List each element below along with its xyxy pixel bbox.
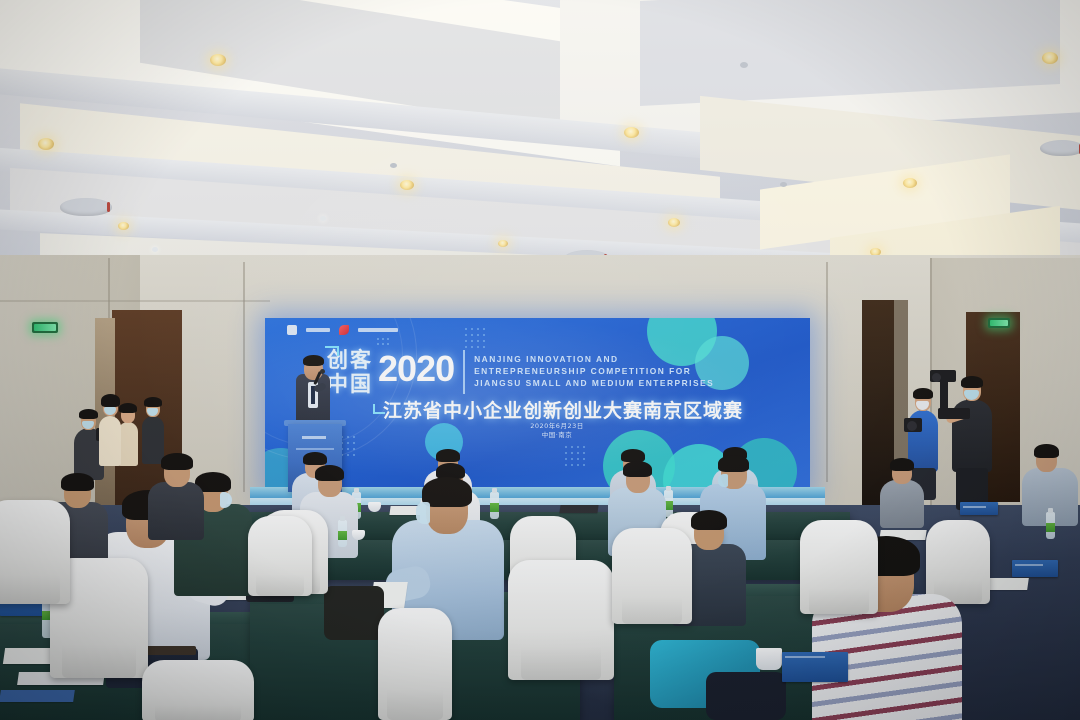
- microphone-head-icon: [320, 369, 325, 374]
- name-card: [782, 652, 848, 682]
- laptop-closed: [559, 505, 598, 513]
- name-card: [960, 502, 998, 515]
- water-bottle: [1046, 512, 1055, 539]
- chair: [508, 560, 614, 680]
- speaker-hair: [303, 355, 324, 366]
- chair: [0, 500, 70, 604]
- conference-hall-photo: 创客 中国 2020 NANJING INNOVATION AND ENTREP…: [0, 0, 1080, 720]
- podium-logo: [302, 436, 326, 439]
- water-bottle: [338, 520, 347, 547]
- tea-cup: [756, 648, 782, 670]
- bag: [324, 586, 384, 640]
- chair: [142, 660, 254, 720]
- chair: [248, 516, 312, 596]
- bag: [706, 672, 786, 720]
- folder: [0, 690, 75, 702]
- podium-text-line: [296, 448, 334, 450]
- water-bottle: [490, 492, 499, 519]
- chair: [800, 520, 878, 614]
- chair: [926, 520, 990, 604]
- chair: [378, 608, 452, 720]
- camera-lens-icon: [932, 373, 941, 382]
- camera-lens-icon: [907, 421, 917, 431]
- chair: [612, 528, 692, 624]
- name-card: [1012, 560, 1058, 577]
